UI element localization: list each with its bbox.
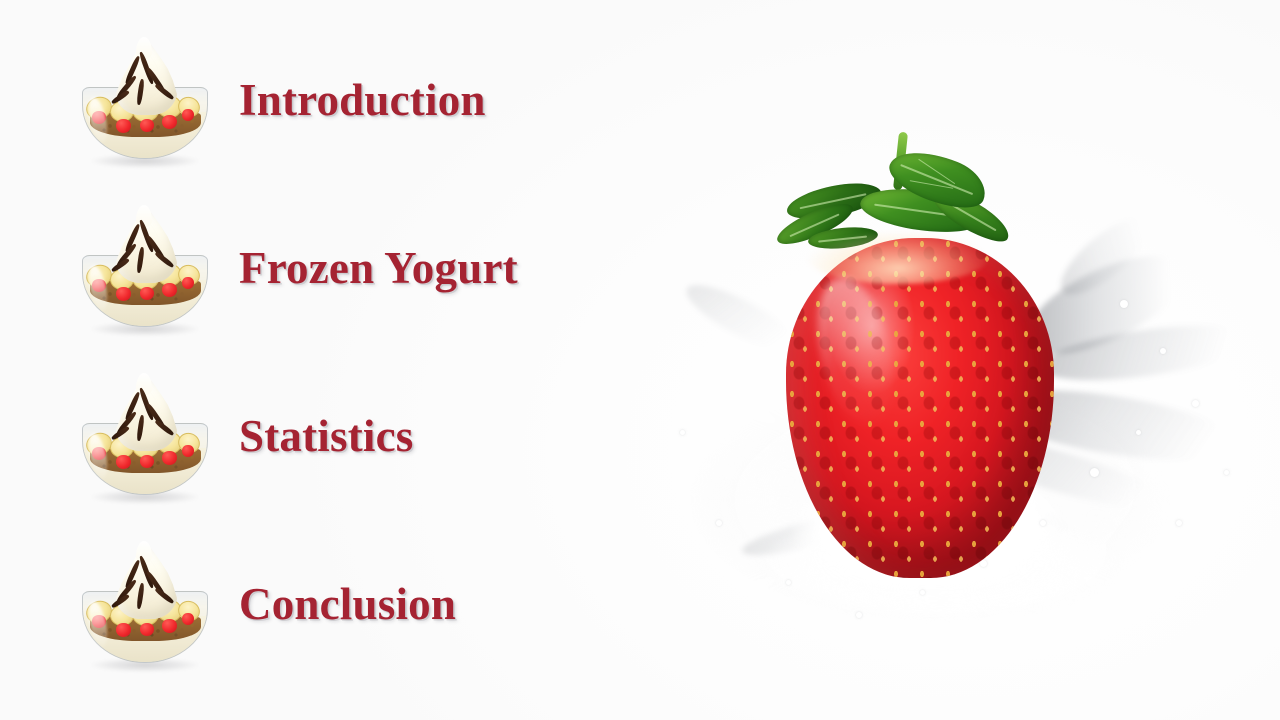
strawberry-piece-icon <box>162 115 177 129</box>
strawberry-piece-icon <box>162 451 177 465</box>
strawberry-piece-icon <box>140 119 154 132</box>
strawberry-piece-icon <box>182 613 194 625</box>
agenda-item-label: Statistics <box>239 414 414 463</box>
frozen-yogurt-bowl-icon <box>62 363 227 513</box>
milk-droplet <box>856 612 862 618</box>
milk-droplet <box>680 430 685 435</box>
milk-droplet <box>716 520 722 526</box>
frozen-yogurt-bowl-icon <box>62 195 227 345</box>
strawberry-piece-icon <box>116 455 131 469</box>
strawberry-piece-icon <box>182 109 194 121</box>
strawberry-piece-icon <box>162 283 177 297</box>
strawberry-piece-icon <box>92 279 106 292</box>
frozen-yogurt-bowl-icon <box>62 531 227 681</box>
agenda-item-label: Frozen Yogurt <box>239 246 518 295</box>
strawberry-piece-icon <box>140 455 154 468</box>
strawberry-piece-icon <box>140 287 154 300</box>
agenda-item-statistics[interactable]: Statistics <box>62 363 642 513</box>
milk-droplet <box>1120 300 1128 308</box>
strawberry-piece-icon <box>116 119 131 133</box>
milk-droplet <box>1176 520 1182 526</box>
agenda-list: Introduction <box>0 0 640 720</box>
agenda-item-label: Conclusion <box>239 582 456 631</box>
strawberry-shoulder-highlight <box>808 232 988 284</box>
agenda-item-frozen-yogurt[interactable]: Frozen Yogurt <box>62 195 642 345</box>
milk-droplet <box>1192 400 1199 407</box>
strawberry-piece-icon <box>92 111 106 124</box>
agenda-item-label: Introduction <box>239 78 486 127</box>
milk-droplet <box>1136 430 1141 435</box>
strawberry-icon <box>768 128 1098 598</box>
strawberry-piece-icon <box>116 287 131 301</box>
strawberry-piece-icon <box>116 623 131 637</box>
strawberry-piece-icon <box>92 447 106 460</box>
strawberry-piece-icon <box>182 277 194 289</box>
strawberry-piece-icon <box>162 619 177 633</box>
agenda-item-introduction[interactable]: Introduction <box>62 27 642 177</box>
agenda-item-conclusion[interactable]: Conclusion <box>62 531 642 681</box>
strawberry-splash-image <box>620 0 1280 720</box>
strawberry-piece-icon <box>140 623 154 636</box>
strawberry-piece-icon <box>182 445 194 457</box>
frozen-yogurt-bowl-icon <box>62 27 227 177</box>
strawberry-piece-icon <box>92 615 106 628</box>
milk-droplet <box>1160 348 1166 354</box>
milk-droplet <box>1224 470 1229 475</box>
presentation-slide: Introduction <box>0 0 1280 720</box>
